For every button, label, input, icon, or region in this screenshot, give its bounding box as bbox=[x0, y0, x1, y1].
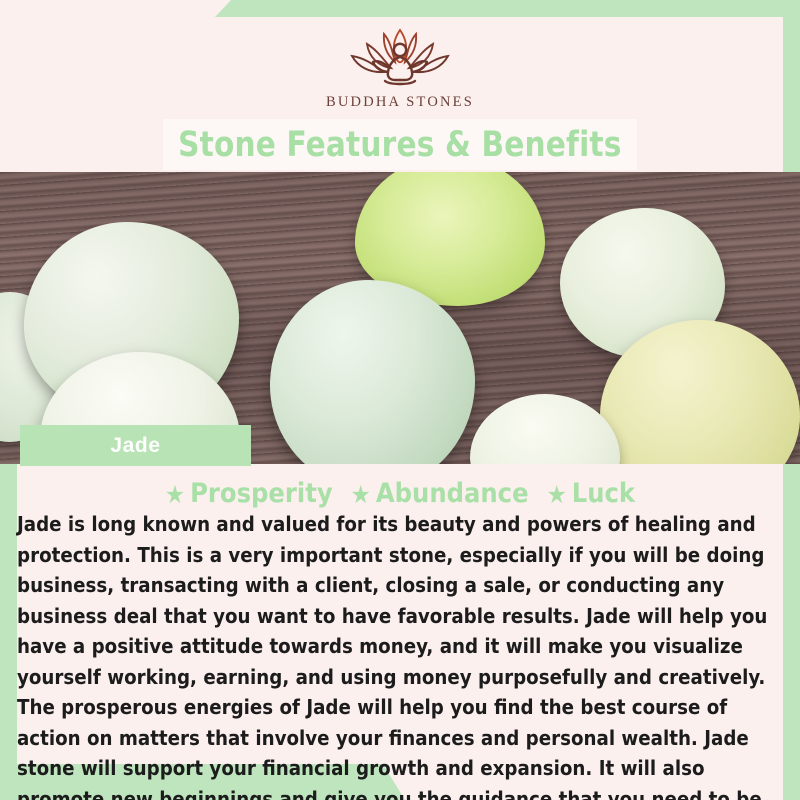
benefit-item-luck: ★Luck bbox=[547, 478, 636, 509]
benefit-label: Luck bbox=[572, 478, 635, 509]
benefit-item-prosperity: ★Prosperity bbox=[165, 478, 333, 509]
star-icon: ★ bbox=[165, 482, 185, 507]
benefit-item-abundance: ★Abundance bbox=[351, 478, 529, 509]
stone-photo bbox=[0, 172, 800, 464]
stone-benefits-infographic: BUDDHA STONES Stone Features & Benefits … bbox=[0, 0, 800, 800]
page-title: Stone Features & Benefits bbox=[178, 125, 621, 165]
star-icon: ★ bbox=[547, 482, 567, 507]
benefit-label: Prosperity bbox=[190, 478, 333, 509]
benefit-label: Abundance bbox=[376, 478, 529, 509]
decorative-bar-top-right bbox=[215, 0, 800, 17]
star-icon: ★ bbox=[351, 482, 371, 507]
page-title-banner: Stone Features & Benefits bbox=[163, 119, 637, 170]
brand-logo: BUDDHA STONES bbox=[0, 22, 800, 111]
stone-description: Jade is long known and valued for its be… bbox=[17, 509, 772, 800]
brand-wordmark: BUDDHA STONES bbox=[0, 94, 800, 111]
lotus-meditation-icon bbox=[340, 22, 460, 90]
stone-description-text: Jade is long known and valued for its be… bbox=[17, 509, 772, 800]
benefits-row: ★Prosperity★Abundance★Luck bbox=[0, 478, 800, 509]
stone-name-label: Jade bbox=[110, 434, 160, 458]
stone-name-badge: Jade bbox=[20, 425, 251, 466]
